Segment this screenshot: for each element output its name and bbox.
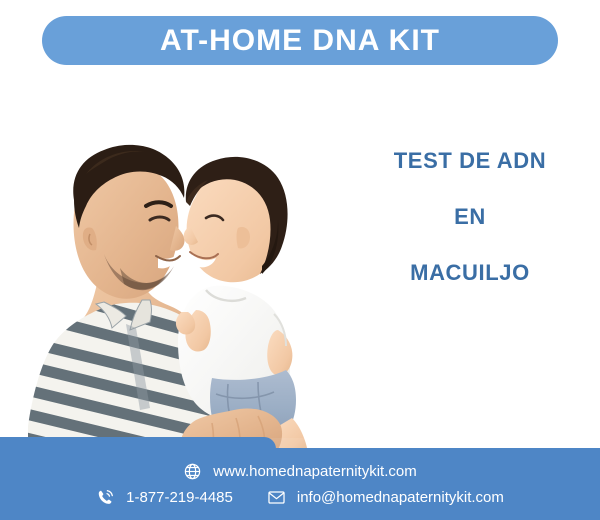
- family-photo-illustration: [0, 78, 340, 453]
- headline-line-2: EN: [340, 206, 600, 228]
- flyer-card: AT-HOME DNA KIT: [0, 0, 600, 520]
- envelope-icon: [267, 488, 286, 507]
- footer-website[interactable]: www.homednapaternitykit.com: [183, 462, 416, 481]
- footer-email[interactable]: info@homednapaternitykit.com: [267, 488, 504, 507]
- headline-panel: TEST DE ADN EN MACUILJO: [340, 150, 600, 284]
- footer-phone[interactable]: 1-877-219-4485: [96, 488, 233, 507]
- phone-icon: [96, 488, 115, 507]
- footer-row-phone-email: 1-877-219-4485 info@homednapaternitykit.…: [96, 488, 504, 507]
- headline-line-3: MACUILJO: [340, 262, 600, 284]
- footer-bar: www.homednapaternitykit.com 1-877-219-44…: [0, 437, 600, 520]
- page-title: AT-HOME DNA KIT: [160, 26, 440, 56]
- footer-contact-info: www.homednapaternitykit.com 1-877-219-44…: [0, 448, 600, 520]
- family-photo: [0, 78, 340, 453]
- phone-number: 1-877-219-4485: [126, 490, 233, 505]
- email-address: info@homednapaternitykit.com: [297, 490, 504, 505]
- footer-row-website: www.homednapaternitykit.com: [183, 462, 416, 481]
- headline-line-1: TEST DE ADN: [340, 150, 600, 172]
- globe-icon: [183, 462, 202, 481]
- website-url: www.homednapaternitykit.com: [213, 464, 416, 479]
- header-banner: AT-HOME DNA KIT: [42, 16, 558, 65]
